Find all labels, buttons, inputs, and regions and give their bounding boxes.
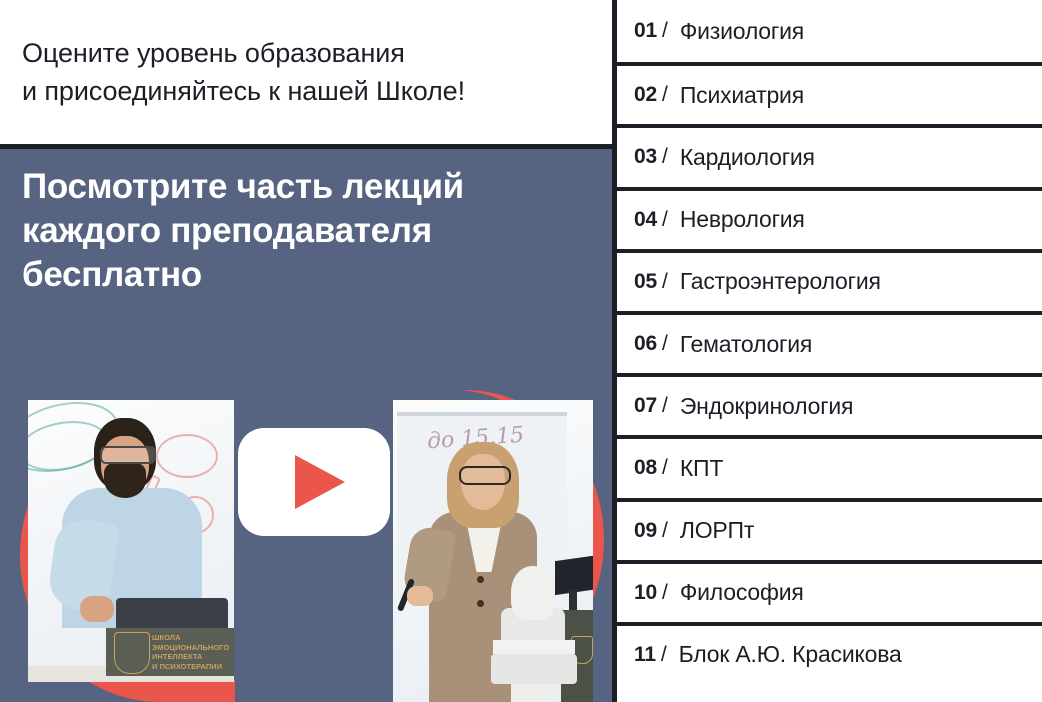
- jacket-button: [477, 600, 484, 607]
- bust-base: [493, 640, 575, 654]
- topic-number: 03: [634, 145, 657, 169]
- topic-number: 01: [634, 19, 657, 43]
- topic-row[interactable]: 07/Эндокринология: [617, 373, 1042, 435]
- glasses-icon: [459, 466, 511, 485]
- topic-label: Философия: [680, 579, 804, 606]
- topic-row[interactable]: 06/Гематология: [617, 311, 1042, 373]
- bust-head: [511, 566, 555, 620]
- topic-row[interactable]: 01/Физиология: [617, 0, 1042, 62]
- topic-row[interactable]: 02/Психиатрия: [617, 62, 1042, 124]
- topic-label: Психиатрия: [680, 82, 804, 109]
- promo-page: Оцените уровень образования и присоединя…: [0, 0, 1042, 702]
- topic-separator: /: [662, 19, 668, 43]
- topic-separator: /: [662, 519, 668, 543]
- topic-separator: /: [662, 332, 668, 356]
- topic-label: ЛОРПт: [680, 517, 754, 544]
- pedestal-capital: [491, 654, 577, 684]
- board-scribble: [156, 434, 218, 478]
- topic-number: 08: [634, 456, 657, 480]
- topic-number: 02: [634, 83, 657, 107]
- podium-school-name: ШКОЛА ЭМОЦИОНАЛЬНОГО ИНТЕЛЛЕКТА И ПСИХОТ…: [152, 633, 234, 671]
- topic-label: Гастроэнтерология: [680, 268, 881, 295]
- intro-text: Оцените уровень образования и присоединя…: [22, 34, 592, 110]
- topic-number: 05: [634, 270, 657, 294]
- topic-separator: /: [661, 643, 667, 667]
- topic-row[interactable]: 05/Гастроэнтерология: [617, 249, 1042, 311]
- topic-separator: /: [662, 145, 668, 169]
- topic-number: 06: [634, 332, 657, 356]
- topic-row[interactable]: 03/Кардиология: [617, 124, 1042, 186]
- topic-separator: /: [662, 208, 668, 232]
- topic-row[interactable]: 10/Философия: [617, 560, 1042, 622]
- topic-label: Эндокринология: [680, 393, 854, 420]
- topic-separator: /: [662, 270, 668, 294]
- speaker-hand: [80, 596, 114, 622]
- hero-title: Посмотрите часть лекций каждого преподав…: [22, 165, 602, 297]
- topic-label: Физиология: [680, 18, 804, 45]
- speaker-hand: [407, 586, 433, 606]
- topic-label: Блок А.Ю. Красикова: [679, 641, 902, 668]
- topics-list: 01/Физиология02/Психиатрия03/Кардиология…: [617, 0, 1042, 702]
- topic-row[interactable]: 09/ЛОРПт: [617, 498, 1042, 560]
- jacket-button: [477, 576, 484, 583]
- play-triangle-icon: [295, 455, 345, 509]
- left-column: Оцените уровень образования и присоединя…: [0, 0, 612, 702]
- topic-separator: /: [662, 581, 668, 605]
- lecture-photo-female-speaker: до 15.15: [393, 400, 593, 702]
- lecture-photo-male-speaker: ШКОЛА ЭМОЦИОНАЛЬНОГО ИНТЕЛЛЕКТА И ПСИХОТ…: [28, 400, 234, 682]
- topic-label: КПТ: [680, 455, 723, 482]
- topic-separator: /: [662, 83, 668, 107]
- topic-label: Неврология: [680, 206, 805, 233]
- topic-number: 11: [634, 643, 656, 667]
- play-video-button[interactable]: [238, 428, 390, 536]
- school-crest-icon: [114, 632, 150, 674]
- topic-number: 09: [634, 519, 657, 543]
- topic-row[interactable]: 04/Неврология: [617, 187, 1042, 249]
- speaker-beard: [104, 462, 146, 498]
- topic-row[interactable]: 11/Блок А.Ю. Красикова: [617, 622, 1042, 684]
- intro-panel: Оцените уровень образования и присоединя…: [0, 0, 612, 144]
- pedestal-shaft: [511, 684, 557, 702]
- topic-separator: /: [662, 456, 668, 480]
- topic-label: Гематология: [680, 331, 812, 358]
- topic-row[interactable]: 08/КПТ: [617, 435, 1042, 497]
- topic-separator: /: [662, 394, 668, 418]
- topic-number: 10: [634, 581, 657, 605]
- glasses-icon: [100, 446, 156, 464]
- topic-number: 04: [634, 208, 657, 232]
- topic-number: 07: [634, 394, 657, 418]
- topic-label: Кардиология: [680, 144, 815, 171]
